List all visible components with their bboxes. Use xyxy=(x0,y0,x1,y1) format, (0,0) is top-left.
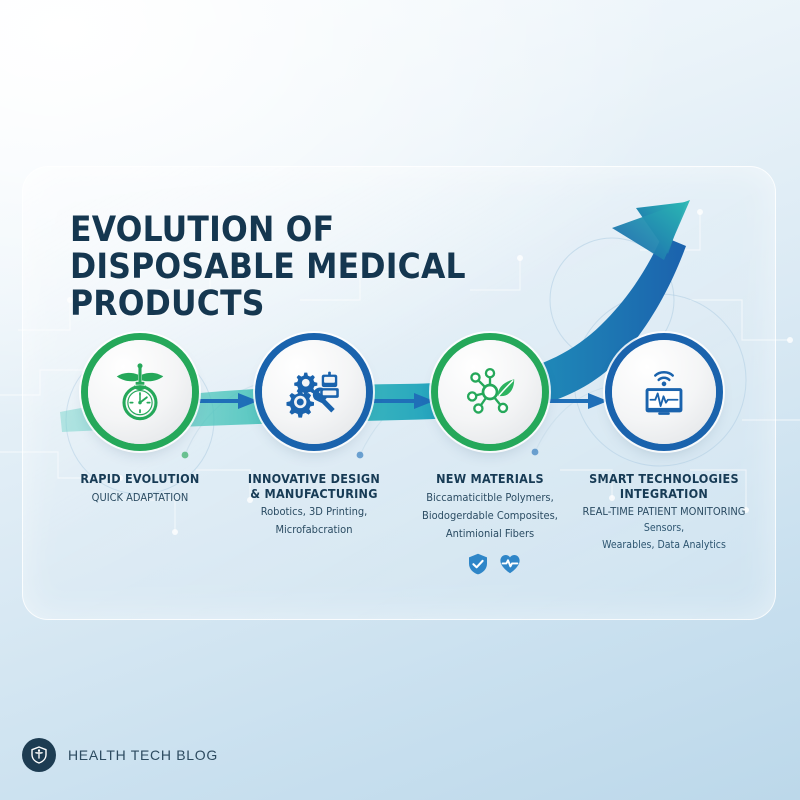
step-2-heading-line-1: INNOVATIVE DESIGN xyxy=(226,472,402,487)
step-3-detail-line-3: Antimionial Fibers xyxy=(402,527,578,541)
brand-name: HEALTH TECH BLOG xyxy=(68,747,218,763)
step-4-heading-line-2: INTEGRATION xyxy=(576,487,752,502)
step-1-sub: QUICK ADAPTATION xyxy=(52,491,228,505)
step-3-circle[interactable] xyxy=(438,340,542,444)
gears-wrench-printer-icon xyxy=(283,361,345,423)
step-4-labels: SMART TECHNOLOGIES INTEGRATION REAL-TIME… xyxy=(576,472,752,552)
infographic-canvas: EVOLUTION OF DISPOSABLE MEDICAL PRODUCTS xyxy=(0,0,800,800)
trust-badges xyxy=(466,552,522,576)
heart-pulse-icon xyxy=(498,552,522,576)
step-4-detail-line-1: Sensors, xyxy=(576,522,752,536)
footer: HEALTH TECH BLOG xyxy=(22,738,218,772)
step-2-detail-line-1: Robotics, 3D Printing, xyxy=(226,505,402,519)
step-rapid-evolution[interactable]: RAPID EVOLUTION QUICK ADAPTATION xyxy=(52,340,228,505)
step-2-detail-line-2: Microfabcration xyxy=(226,523,402,537)
shield-caduceus-icon xyxy=(29,745,49,765)
molecule-leaf-icon xyxy=(459,361,521,423)
step-2-heading-line-2: & MANUFACTURING xyxy=(226,487,402,502)
shield-check-icon xyxy=(466,552,490,576)
monitor-ecg-wifi-icon xyxy=(633,361,695,423)
brand-logo xyxy=(22,738,56,772)
step-2-circle[interactable] xyxy=(262,340,366,444)
step-innovative-design[interactable]: INNOVATIVE DESIGN & MANUFACTURING Roboti… xyxy=(226,340,402,537)
process-steps: RAPID EVOLUTION QUICK ADAPTATION xyxy=(0,0,800,800)
step-3-detail-line-1: Biccamaticitble Polymers, xyxy=(402,491,578,505)
step-new-materials[interactable]: NEW MATERIALS Biccamaticitble Polymers, … xyxy=(402,340,578,541)
step-4-detail-line-2: Wearables, Data Analytics xyxy=(576,539,752,553)
step-3-labels: NEW MATERIALS Biccamaticitble Polymers, … xyxy=(402,472,578,541)
stopwatch-caduceus-icon xyxy=(109,361,171,423)
step-4-circle[interactable] xyxy=(612,340,716,444)
step-1-heading: RAPID EVOLUTION xyxy=(52,472,228,487)
step-smart-technologies[interactable]: SMART TECHNOLOGIES INTEGRATION REAL-TIME… xyxy=(576,340,752,552)
step-4-heading-line-1: SMART TECHNOLOGIES xyxy=(576,472,752,487)
step-1-labels: RAPID EVOLUTION QUICK ADAPTATION xyxy=(52,472,228,505)
step-1-circle[interactable] xyxy=(88,340,192,444)
step-2-labels: INNOVATIVE DESIGN & MANUFACTURING Roboti… xyxy=(226,472,402,537)
step-3-heading: NEW MATERIALS xyxy=(402,472,578,487)
step-3-detail-line-2: Biodogerdable Composites, xyxy=(402,509,578,523)
step-4-sub: REAL-TIME PATIENT MONITORING xyxy=(576,505,752,519)
